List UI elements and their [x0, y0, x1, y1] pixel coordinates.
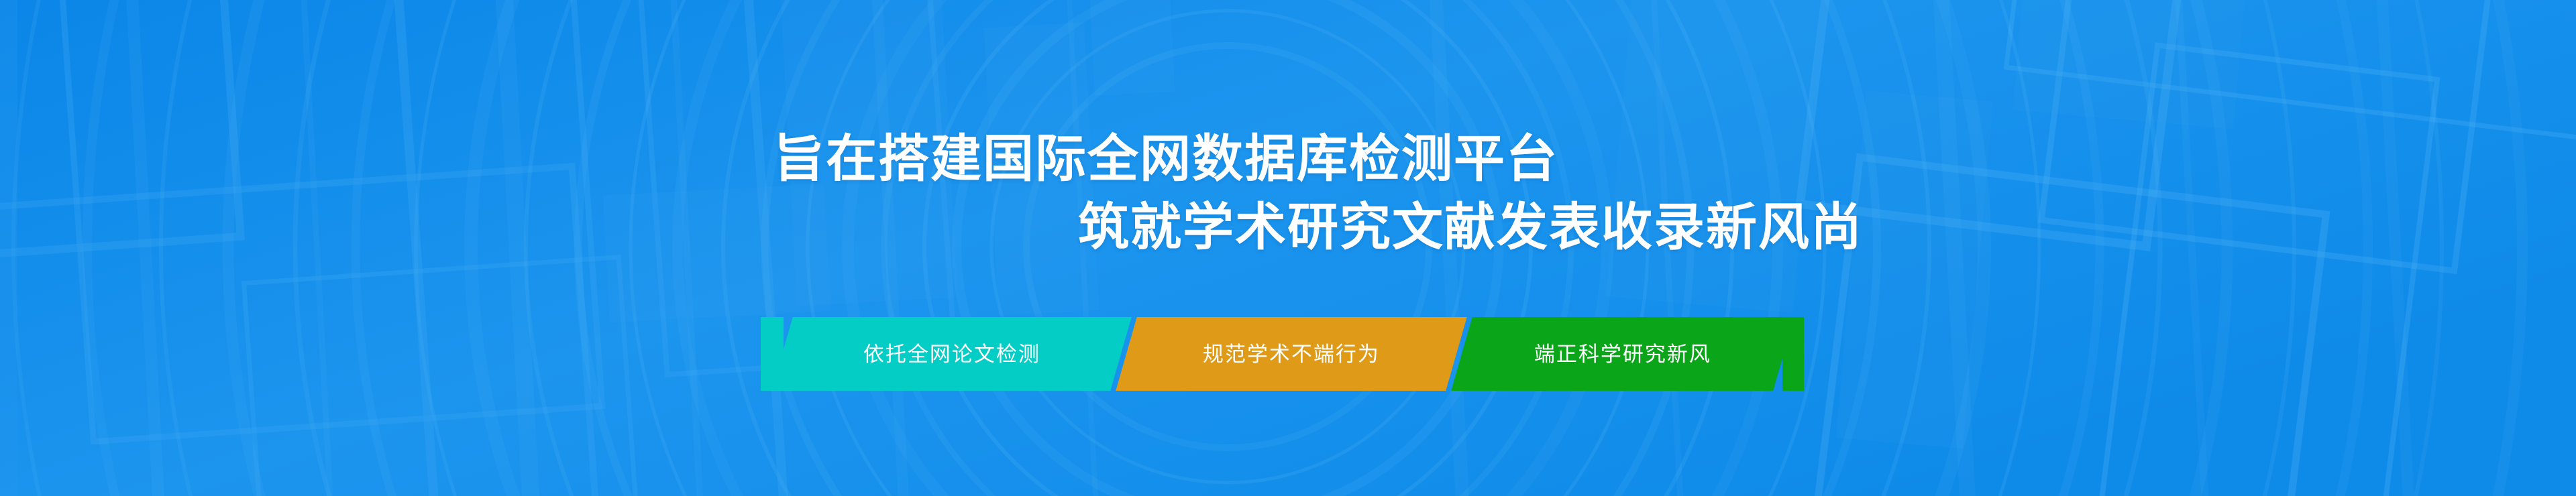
feature-tag-1[interactable]: 依托全网论文检测: [771, 317, 1132, 391]
headline-line-1: 旨在搭建国际全网数据库检测平台: [773, 134, 1558, 185]
headline-line-2: 筑就学术研究文献发表收录新风尚: [1078, 202, 1863, 253]
hero-banner: 旨在搭建国际全网数据库检测平台 筑就学术研究文献发表收录新风尚 依托全网论文检测…: [0, 0, 2576, 496]
feature-tag-3-label: 端正科学研究新风: [1534, 344, 1711, 365]
feature-tag-2-label: 规范学术不端行为: [1203, 344, 1380, 365]
feature-tag-2[interactable]: 规范学术不端行为: [1116, 317, 1467, 391]
feature-tag-strip: 依托全网论文检测 规范学术不端行为 端正科学研究新风: [771, 317, 1784, 391]
feature-tag-3[interactable]: 端正科学研究新风: [1451, 317, 1794, 391]
feature-tag-1-label: 依托全网论文检测: [863, 344, 1040, 365]
